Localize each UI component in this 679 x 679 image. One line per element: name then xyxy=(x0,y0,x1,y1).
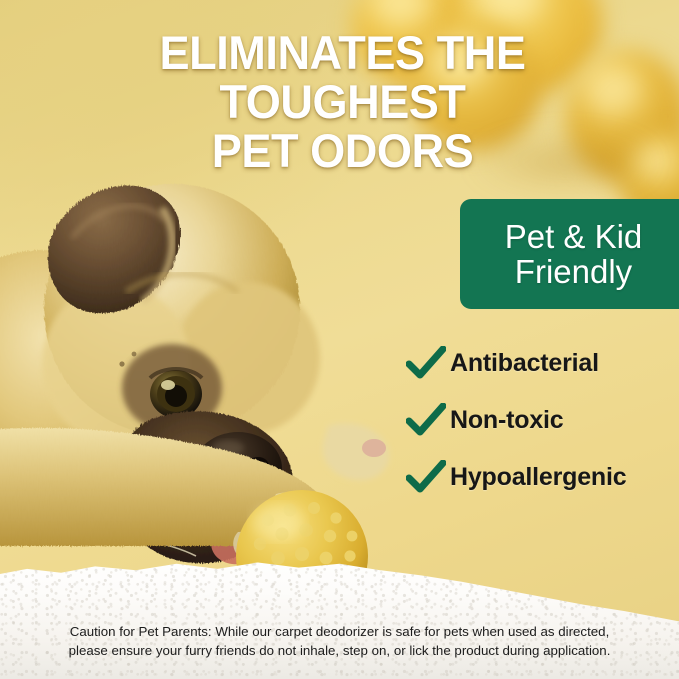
badge-line-1: Pet & Kid xyxy=(505,219,643,254)
caution-line-1: Caution for Pet Parents: While our carpe… xyxy=(22,622,657,641)
product-marketing-image: ELIMINATES THE TOUGHEST PET ODORS Pet & … xyxy=(0,0,679,679)
feature-label: Antibacterial xyxy=(450,349,599,378)
list-item: Antibacterial xyxy=(406,340,679,386)
feature-label: Non-toxic xyxy=(450,406,563,435)
check-icon xyxy=(406,403,450,437)
check-icon xyxy=(406,460,450,494)
dog-eye-glint xyxy=(161,380,175,390)
feature-label: Hypoallergenic xyxy=(450,463,626,492)
list-item: Non-toxic xyxy=(406,397,679,443)
feature-list: Antibacterial Non-toxic Hypoallergenic xyxy=(406,340,679,511)
headline-line-2: PET ODORS xyxy=(43,126,643,175)
headline-line-1: ELIMINATES THE TOUGHEST xyxy=(43,28,643,126)
pet-kid-friendly-badge: Pet & Kid Friendly xyxy=(460,199,679,309)
check-icon xyxy=(406,346,450,380)
list-item: Hypoallergenic xyxy=(406,454,679,500)
badge-line-2: Friendly xyxy=(505,254,643,289)
dog-paw-pad xyxy=(362,439,386,457)
caution-text: Caution for Pet Parents: While our carpe… xyxy=(0,622,679,660)
page-title: ELIMINATES THE TOUGHEST PET ODORS xyxy=(43,28,643,175)
caution-line-2: please ensure your furry friends do not … xyxy=(22,641,657,660)
badge-text: Pet & Kid Friendly xyxy=(497,219,643,289)
